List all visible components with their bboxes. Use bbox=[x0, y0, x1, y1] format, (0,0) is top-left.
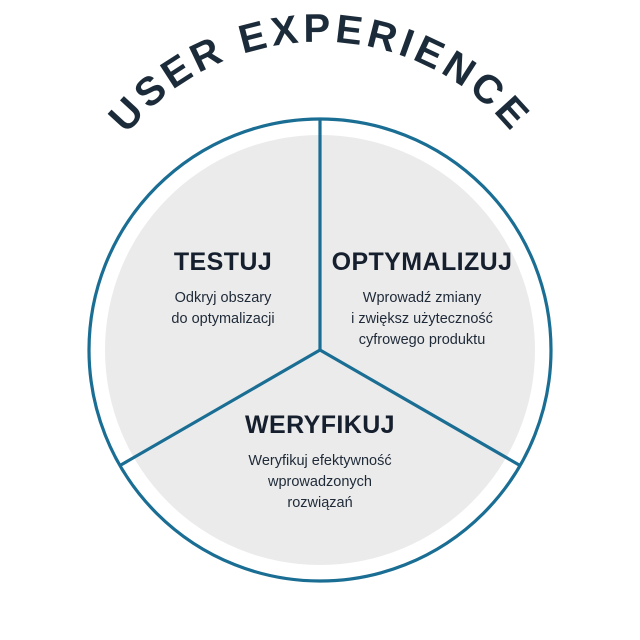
segment-weryfikuj-body-line-1: Weryfikuj efektywność bbox=[248, 453, 391, 469]
user-experience-cycle-diagram: USER EXPERIENCE TESTUJ Odkryj obszary do… bbox=[0, 0, 640, 640]
segment-weryfikuj-body-line-2: wprowadzonych bbox=[267, 474, 372, 490]
segment-optymalizuj-heading: OPTYMALIZUJ bbox=[332, 248, 513, 276]
segment-weryfikuj-body-line-3: rozwiązań bbox=[287, 495, 352, 511]
segment-optymalizuj-body-line-2: i zwiększ użyteczność bbox=[351, 311, 493, 327]
segment-weryfikuj-heading: WERYFIKUJ bbox=[245, 411, 395, 439]
segment-optymalizuj-body-line-3: cyfrowego produktu bbox=[359, 332, 486, 348]
segment-optymalizuj-body-line-1: Wprowadź zmiany bbox=[363, 290, 482, 306]
segment-testuj-heading: TESTUJ bbox=[174, 248, 272, 276]
segment-testuj-body-line-1: Odkryj obszary bbox=[175, 290, 272, 306]
segment-testuj-body-line-2: do optymalizacji bbox=[171, 311, 274, 327]
